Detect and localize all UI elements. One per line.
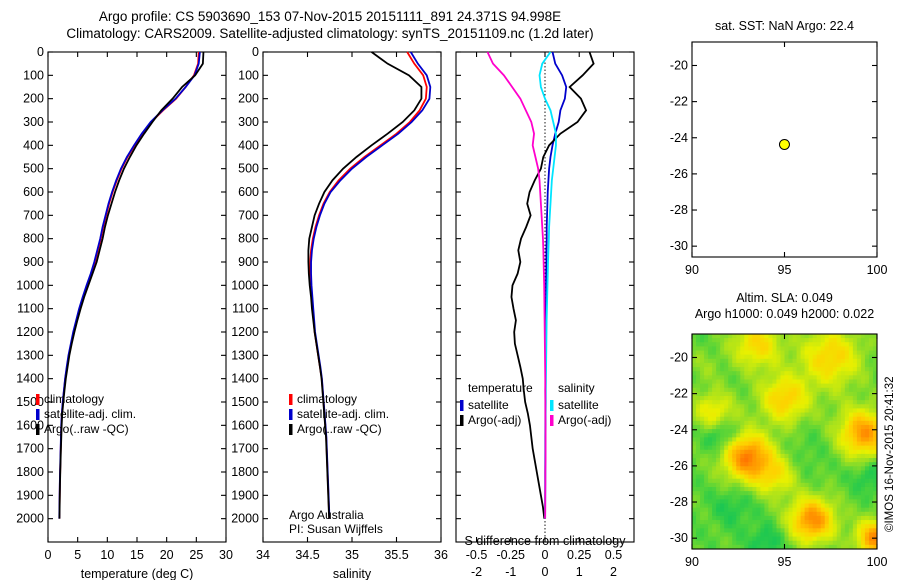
heatmap-cell	[756, 499, 761, 504]
heatmap-cell	[789, 508, 794, 513]
heatmap-cell	[704, 417, 709, 422]
heatmap-cell	[793, 417, 798, 422]
heatmap-cell	[837, 396, 842, 401]
heatmap-cell	[865, 421, 870, 426]
heatmap-cell	[809, 483, 814, 488]
heatmap-cell	[853, 375, 858, 380]
heatmap-cell	[752, 483, 757, 488]
heatmap-cell	[760, 346, 765, 351]
heatmap-cell	[760, 355, 765, 360]
heatmap-cell	[776, 524, 781, 529]
profile-location-marker[interactable]	[779, 139, 789, 149]
heatmap-cell	[817, 483, 822, 488]
heatmap-cell	[716, 367, 721, 372]
heatmap-cell	[748, 371, 753, 376]
heatmap-cell	[748, 338, 753, 343]
heatmap-cell	[809, 371, 814, 376]
heatmap-cell	[829, 346, 834, 351]
heatmap-cell	[764, 458, 769, 463]
pi-label: PI: Susan Wijffels	[289, 522, 383, 536]
heatmap-cell	[821, 433, 826, 438]
heatmap-cell	[793, 375, 798, 380]
heatmap-cell	[809, 520, 814, 525]
heatmap-cell	[760, 450, 765, 455]
heatmap-cell	[780, 528, 785, 533]
heatmap-cell	[764, 470, 769, 475]
x-tick-label: 90	[685, 555, 699, 569]
heatmap-cell	[756, 334, 761, 339]
heatmap-cell	[793, 408, 798, 413]
heatmap-cell	[841, 470, 846, 475]
heatmap-cell	[772, 470, 777, 475]
heatmap-cell	[744, 454, 749, 459]
heatmap-cell	[865, 524, 870, 529]
heatmap-cell	[825, 470, 830, 475]
heatmap-cell	[780, 475, 785, 480]
heatmap-cell	[764, 483, 769, 488]
heatmap-cell	[821, 508, 826, 513]
heatmap-cell	[760, 371, 765, 376]
heatmap-cell	[780, 479, 785, 484]
heatmap-cell	[720, 375, 725, 380]
legend-label: climatology	[297, 392, 357, 406]
heatmap-cell	[700, 487, 705, 492]
heatmap-cell	[700, 342, 705, 347]
heatmap-cell	[732, 524, 737, 529]
heatmap-cell	[845, 541, 850, 546]
heatmap-cell	[772, 483, 777, 488]
heatmap-cell	[853, 351, 858, 356]
heatmap-cell	[760, 429, 765, 434]
heatmap-cell	[720, 379, 725, 384]
heatmap-cell	[724, 355, 729, 360]
x-tick-label: 5	[74, 548, 81, 562]
heatmap-cell	[825, 338, 830, 343]
heatmap-cell	[740, 346, 745, 351]
heatmap-cell	[764, 371, 769, 376]
heatmap-cell	[728, 504, 733, 509]
heatmap-cell	[801, 483, 806, 488]
heatmap-cell	[805, 396, 810, 401]
heatmap-cell	[789, 379, 794, 384]
heatmap-cell	[805, 512, 810, 517]
heatmap-cell	[813, 338, 818, 343]
heatmap-cell	[837, 528, 842, 533]
heatmap-cell	[829, 404, 834, 409]
heatmap-cell	[853, 475, 858, 480]
heatmap-cell	[700, 396, 705, 401]
heatmap-cell	[837, 404, 842, 409]
heatmap-cell	[740, 338, 745, 343]
heatmap-cell	[740, 470, 745, 475]
heatmap-cell	[829, 433, 834, 438]
heatmap-cell	[829, 532, 834, 537]
heatmap-cell	[809, 470, 814, 475]
heatmap-cell	[785, 417, 790, 422]
heatmap-cell	[821, 396, 826, 401]
heatmap-cell	[793, 334, 798, 339]
heatmap-cell	[869, 437, 874, 442]
heatmap-cell	[776, 355, 781, 360]
heatmap-cell	[720, 413, 725, 418]
x-tick-label-bottom: 1	[576, 565, 583, 579]
heatmap-cell	[845, 351, 850, 356]
heatmap-cell	[797, 504, 802, 509]
heatmap-cell	[712, 421, 717, 426]
heatmap-cell	[700, 462, 705, 467]
y-tick-label: 800	[238, 232, 259, 246]
heatmap-cell	[793, 508, 798, 513]
heatmap-cell	[829, 437, 834, 442]
heatmap-cell	[861, 499, 866, 504]
heatmap-cell	[732, 495, 737, 500]
heatmap-cell	[857, 429, 862, 434]
heatmap-cell	[853, 454, 858, 459]
heatmap-cell	[696, 442, 701, 447]
heatmap-cell	[724, 495, 729, 500]
heatmap-cell	[785, 475, 790, 480]
heatmap-cell	[841, 392, 846, 397]
heatmap-cell	[841, 541, 846, 546]
heatmap-cell	[772, 342, 777, 347]
heatmap-cell	[805, 466, 810, 471]
heatmap-cell	[857, 491, 862, 496]
heatmap-cell	[748, 421, 753, 426]
heatmap-cell	[704, 479, 709, 484]
heatmap-cell	[841, 520, 846, 525]
heatmap-cell	[789, 404, 794, 409]
heatmap-cell	[841, 454, 846, 459]
heatmap-cell	[692, 404, 697, 409]
heatmap-cell	[696, 446, 701, 451]
heatmap-cell	[797, 483, 802, 488]
heatmap-cell	[728, 442, 733, 447]
heatmap-cell	[768, 363, 773, 368]
heatmap-cell	[704, 495, 709, 500]
heatmap-cell	[797, 446, 802, 451]
heatmap-cell	[764, 375, 769, 380]
heatmap-cell	[845, 528, 850, 533]
heatmap-cell	[768, 483, 773, 488]
heatmap-cell	[857, 528, 862, 533]
heatmap-cell	[736, 433, 741, 438]
plot-frame	[263, 52, 441, 542]
heatmap-cell	[797, 470, 802, 475]
heatmap-cell	[720, 491, 725, 496]
heatmap-cell	[853, 524, 858, 529]
heatmap-cell	[853, 495, 858, 500]
heatmap-cell	[857, 446, 862, 451]
heatmap-cell	[700, 425, 705, 430]
heatmap-cell	[720, 504, 725, 509]
heatmap-cell	[853, 512, 858, 517]
heatmap-cell	[780, 532, 785, 537]
heatmap-cell	[704, 392, 709, 397]
heatmap-cell	[805, 458, 810, 463]
heatmap-cell	[708, 417, 713, 422]
heatmap-cell	[712, 408, 717, 413]
heatmap-cell	[837, 421, 842, 426]
heatmap-cell	[728, 499, 733, 504]
heatmap-cell	[756, 400, 761, 405]
heatmap-cell	[740, 359, 745, 364]
heatmap-cell	[696, 359, 701, 364]
heatmap-cell	[809, 495, 814, 500]
heatmap-cell	[821, 491, 826, 496]
heatmap-cell	[720, 516, 725, 521]
heatmap-cell	[825, 541, 830, 546]
heatmap-cell	[728, 355, 733, 360]
heatmap-cell	[841, 491, 846, 496]
heatmap-cell	[768, 475, 773, 480]
heatmap-cell	[861, 355, 866, 360]
heatmap-cell	[764, 408, 769, 413]
heatmap-cell	[829, 355, 834, 360]
heatmap-cell	[764, 355, 769, 360]
heatmap-cell	[853, 338, 858, 343]
heatmap-cell	[704, 355, 709, 360]
y-tick-label: 1600	[16, 418, 44, 432]
heatmap-cell	[821, 528, 826, 533]
heatmap-cell	[849, 351, 854, 356]
heatmap-cell	[829, 520, 834, 525]
heatmap-cell	[841, 375, 846, 380]
heatmap-cell	[756, 470, 761, 475]
heatmap-cell	[869, 454, 874, 459]
heatmap-cell	[712, 334, 717, 339]
heatmap-cell	[760, 400, 765, 405]
heatmap-cell	[785, 355, 790, 360]
heatmap-cell	[724, 351, 729, 356]
heatmap-cell	[797, 371, 802, 376]
heatmap-cell	[704, 379, 709, 384]
heatmap-cell	[740, 404, 745, 409]
heatmap-cell	[785, 346, 790, 351]
heatmap-cell	[732, 396, 737, 401]
heatmap-cell	[793, 450, 798, 455]
heatmap-cell	[696, 363, 701, 368]
heatmap-cell	[845, 404, 850, 409]
heatmap-cell	[720, 537, 725, 542]
heatmap-cell	[692, 417, 697, 422]
heatmap-cell	[740, 466, 745, 471]
heatmap-cell	[692, 334, 697, 339]
heatmap-cell	[768, 512, 773, 517]
heatmap-cell	[837, 512, 842, 517]
heatmap-cell	[764, 404, 769, 409]
heatmap-cell	[833, 388, 838, 393]
heatmap-cell	[740, 421, 745, 426]
x-tick-label-bottom: 2	[610, 565, 617, 579]
y-tick-label: 600	[23, 185, 44, 199]
heatmap-cell	[732, 520, 737, 525]
heatmap-cell	[704, 442, 709, 447]
heatmap-cell	[704, 396, 709, 401]
heatmap-cell	[797, 359, 802, 364]
heatmap-cell	[861, 429, 866, 434]
y-tick-label: 1900	[16, 488, 44, 502]
heatmap-cell	[785, 388, 790, 393]
heatmap-cell	[756, 342, 761, 347]
heatmap-cell	[712, 400, 717, 405]
x-tick-label-top: -0.25	[497, 548, 526, 562]
heatmap-cell	[744, 541, 749, 546]
heatmap-cell	[845, 363, 850, 368]
heatmap-cell	[720, 346, 725, 351]
heatmap-cell	[825, 392, 830, 397]
heatmap-cell	[821, 446, 826, 451]
heatmap-cell	[833, 384, 838, 389]
heatmap-cell	[740, 384, 745, 389]
heatmap-cell	[805, 446, 810, 451]
heatmap-cell	[700, 429, 705, 434]
heatmap-cell	[780, 408, 785, 413]
heatmap-cell	[736, 475, 741, 480]
heatmap-cell	[809, 528, 814, 533]
heatmap-cell	[817, 334, 822, 339]
heatmap-cell	[865, 351, 870, 356]
heatmap-cell	[833, 421, 838, 426]
heatmap-cell	[768, 491, 773, 496]
heatmap-cell	[740, 520, 745, 525]
heatmap-cell	[712, 495, 717, 500]
heatmap-cell	[813, 470, 818, 475]
heatmap-cell	[829, 417, 834, 422]
heatmap-cell	[692, 516, 697, 521]
heatmap-cell	[845, 429, 850, 434]
heatmap-cell	[732, 499, 737, 504]
heatmap-cell	[789, 466, 794, 471]
heatmap-cell	[837, 433, 842, 438]
heatmap-cell	[720, 532, 725, 537]
legend-swatch	[550, 400, 554, 411]
heatmap-cell	[748, 396, 753, 401]
heatmap-cell	[841, 351, 846, 356]
heatmap-cell	[692, 491, 697, 496]
heatmap-cell	[793, 495, 798, 500]
heatmap-cell	[732, 541, 737, 546]
heatmap-cell	[752, 512, 757, 517]
heatmap-cell	[841, 537, 846, 542]
heatmap-cell	[708, 429, 713, 434]
heatmap-cell	[857, 508, 862, 513]
heatmap-cell	[853, 355, 858, 360]
heatmap-cell	[821, 487, 826, 492]
heatmap-cell	[801, 479, 806, 484]
heatmap-cell	[869, 338, 874, 343]
heatmap-cell	[728, 417, 733, 422]
heatmap-cell	[728, 375, 733, 380]
heatmap-cell	[809, 466, 814, 471]
heatmap-cell	[837, 499, 842, 504]
heatmap-cell	[817, 396, 822, 401]
heatmap-cell	[833, 475, 838, 480]
heatmap-cell	[700, 363, 705, 368]
heatmap-cell	[845, 359, 850, 364]
heatmap-cell	[861, 408, 866, 413]
heatmap-cell	[768, 371, 773, 376]
heatmap-cell	[728, 359, 733, 364]
heatmap-cell	[833, 342, 838, 347]
heatmap-cell	[720, 408, 725, 413]
x-axis-label: salinity	[333, 567, 372, 580]
heatmap-cell	[744, 388, 749, 393]
heatmap-cell	[776, 388, 781, 393]
heatmap-cell	[760, 462, 765, 467]
heatmap-cell	[740, 450, 745, 455]
heatmap-cell	[833, 483, 838, 488]
heatmap-cell	[708, 433, 713, 438]
heatmap-cell	[797, 351, 802, 356]
heatmap-cell	[736, 346, 741, 351]
heatmap-cell	[748, 491, 753, 496]
heatmap-cell	[785, 524, 790, 529]
heatmap-cell	[760, 541, 765, 546]
heatmap-cell	[724, 429, 729, 434]
heatmap-cell	[845, 392, 850, 397]
series-climatology	[59, 52, 198, 519]
heatmap-cell	[825, 384, 830, 389]
heatmap-cell	[692, 400, 697, 405]
copyright-text: ©IMOS 16-Nov-2015 20:41:32	[884, 322, 896, 532]
heatmap-cell	[732, 470, 737, 475]
heatmap-cell	[817, 458, 822, 463]
heatmap-cell	[764, 384, 769, 389]
heatmap-cell	[756, 466, 761, 471]
heatmap-cell	[756, 351, 761, 356]
heatmap-cell	[865, 487, 870, 492]
heatmap-cell	[744, 379, 749, 384]
heatmap-cell	[760, 458, 765, 463]
heatmap-cell	[696, 371, 701, 376]
heatmap-cell	[785, 450, 790, 455]
heatmap-cell	[732, 375, 737, 380]
heatmap-cell	[837, 392, 842, 397]
heatmap-cell	[857, 388, 862, 393]
heatmap-cell	[837, 371, 842, 376]
y-tick-label: 300	[23, 115, 44, 129]
heatmap-cell	[845, 462, 850, 467]
heatmap-cell	[772, 512, 777, 517]
heatmap-cell	[869, 537, 874, 542]
heatmap-cell	[817, 417, 822, 422]
legend-swatch	[289, 424, 293, 435]
heatmap-cell	[768, 404, 773, 409]
heatmap-cell	[760, 528, 765, 533]
heatmap-cell	[744, 429, 749, 434]
heatmap-cell	[720, 351, 725, 356]
heatmap-cell	[861, 400, 866, 405]
heatmap-cell	[841, 425, 846, 430]
heatmap-cell	[768, 479, 773, 484]
heatmap-cell	[785, 413, 790, 418]
heatmap-cell	[837, 491, 842, 496]
heatmap-cell	[849, 450, 854, 455]
heatmap-cell	[776, 541, 781, 546]
heatmap-cell	[692, 425, 697, 430]
heatmap-cell	[768, 338, 773, 343]
heatmap-cell	[801, 458, 806, 463]
heatmap-cell	[724, 512, 729, 517]
heatmap-cell	[752, 516, 757, 521]
heatmap-cell	[837, 442, 842, 447]
heatmap-cell	[801, 491, 806, 496]
heatmap-cell	[732, 516, 737, 521]
heatmap-cell	[837, 475, 842, 480]
legend-heading: temperature	[468, 381, 533, 395]
heatmap-cell	[801, 437, 806, 442]
heatmap-cell	[708, 483, 713, 488]
